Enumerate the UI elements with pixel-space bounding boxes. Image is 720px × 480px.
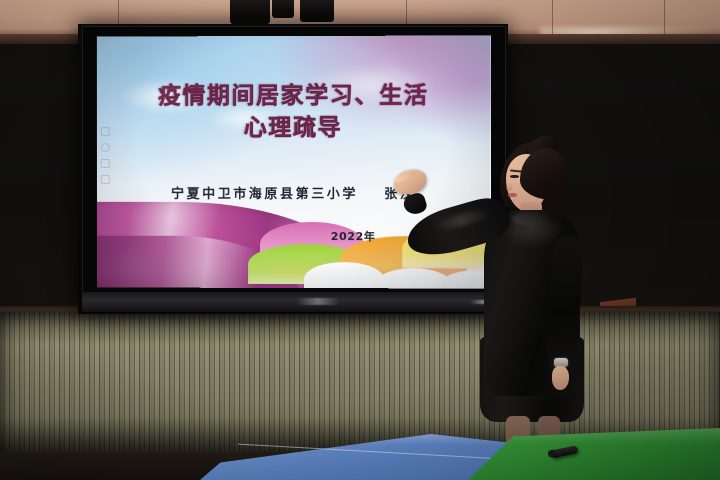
presenter-right-hand: [552, 366, 569, 390]
slide-title-line1: 疫情期间居家学习、生活: [158, 83, 429, 109]
slide-organization: 宁夏中卫市海原县第三小学: [171, 187, 358, 202]
ceiling-mounted-bracket: [272, 0, 294, 18]
presenter-eye: [510, 175, 519, 178]
ceiling-panel-seam: [552, 0, 553, 34]
display-brand-logo: [296, 298, 340, 305]
ceiling-panel-seam: [664, 0, 665, 34]
pointer-icon[interactable]: [101, 143, 110, 152]
presenter-sleeve-cuff: [401, 191, 428, 217]
presenter-collar-ruffle: [512, 212, 552, 226]
slide-menu-icon[interactable]: [101, 159, 110, 168]
slide-title: 疫情期间居家学习、生活 心理疏导: [97, 81, 491, 145]
ppt-presenter-controls[interactable]: [101, 127, 110, 184]
presenter: [392, 140, 582, 452]
ceiling-mounted-speaker: [300, 0, 334, 22]
presenter-lips: [508, 193, 517, 197]
previous-slide-icon[interactable]: [101, 127, 110, 136]
classroom-photo-scene: 疫情期间居家学习、生活 心理疏导 宁夏中卫市海原县第三小学张汉 2022年: [0, 0, 720, 480]
ceiling-mounted-device: [230, 0, 270, 24]
presenter-nose: [506, 182, 513, 191]
next-slide-icon[interactable]: [101, 175, 110, 184]
